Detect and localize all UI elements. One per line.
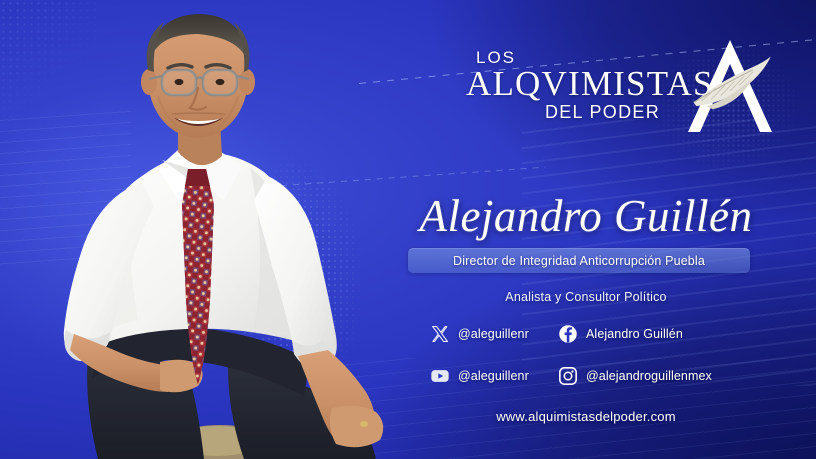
- brand-wordmark: LOS ALQVIMISTAS DEL PODER: [466, 49, 666, 123]
- letter-a-with-quill-feather-icon: [676, 32, 784, 140]
- social-links: @aleguillenr Alejandro Guillén @aleguill…: [430, 318, 750, 392]
- person-name: Alejandro Guillén: [396, 190, 776, 242]
- portrait-photo: [0, 0, 422, 459]
- dashed-accent-line-secondary: [269, 167, 546, 187]
- website-url[interactable]: www.alquimistasdelpoder.com: [396, 409, 776, 424]
- background-streaks-left: [0, 110, 131, 266]
- brand-logo[interactable]: LOS ALQVIMISTAS DEL PODER: [466, 30, 796, 142]
- social-link-facebook[interactable]: Alejandro Guillén: [558, 318, 750, 350]
- social-link-instagram[interactable]: @alejandroguillenmex: [558, 360, 750, 392]
- background-swoosh-3: [0, 107, 537, 459]
- social-handle: Alejandro Guillén: [586, 327, 683, 341]
- halftone-dots-top-left: [0, 0, 98, 119]
- banner-canvas: LOS ALQVIMISTAS DEL PODER Alejandro Guil…: [0, 0, 816, 459]
- role-label: Director de Integridad Anticorrupción Pu…: [453, 254, 705, 268]
- role-badge: Director de Integridad Anticorrupción Pu…: [408, 248, 750, 273]
- social-link-youtube[interactable]: @aleguillenr: [430, 360, 558, 392]
- social-handle: @aleguillenr: [458, 327, 529, 341]
- background-glow-left: [0, 28, 392, 432]
- brand-line-alqvimistas: ALQVIMISTAS: [466, 66, 666, 103]
- facebook-icon: [558, 324, 578, 344]
- social-handle: @aleguillenr: [458, 369, 529, 383]
- social-link-x-twitter[interactable]: @aleguillenr: [430, 318, 558, 350]
- social-handle: @alejandroguillenmex: [586, 369, 712, 383]
- x-twitter-icon: [430, 324, 450, 344]
- tagline: Analista y Consultor Político: [396, 290, 776, 304]
- youtube-icon: [430, 366, 450, 386]
- halftone-dots-center: [212, 138, 375, 423]
- brand-line-del-poder: DEL PODER: [466, 103, 666, 123]
- instagram-icon: [558, 366, 578, 386]
